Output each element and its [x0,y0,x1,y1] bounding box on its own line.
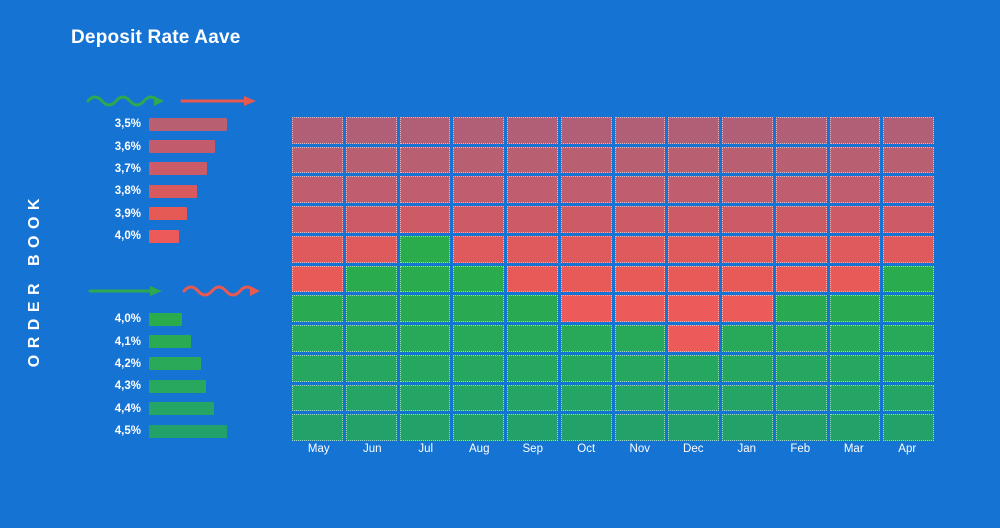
order-book-side-label: ORDER BOOK [13,140,57,420]
heatmap-cell[interactable] [776,414,827,441]
bid-bar-row[interactable]: 4,3% [105,375,265,397]
heatmap-cell[interactable] [507,414,558,441]
heatmap-cell[interactable] [292,355,343,382]
heatmap-cell[interactable] [615,176,666,203]
heatmap-cell[interactable] [668,147,719,174]
bid-bar-group: 4,0% 4,1% 4,2% 4,3% 4,4% 4,5% [105,308,265,442]
ask-bar-label: 4,0% [105,230,149,242]
heatmap-cell[interactable] [292,147,343,174]
heatmap-cell[interactable] [561,147,612,174]
heatmap-cell[interactable] [561,117,612,144]
bid-bar-label: 4,4% [105,403,149,415]
heatmap-cell[interactable] [292,414,343,441]
ask-bar-fill [149,207,187,220]
heatmap-cell[interactable] [722,206,773,233]
x-axis-tick-label: Nov [613,443,667,465]
heatmap-cell[interactable] [668,117,719,144]
heatmap-cell[interactable] [668,266,719,293]
heatmap-cell[interactable] [453,385,504,412]
heatmap-cell[interactable] [883,117,934,144]
heatmap-cell[interactable] [830,206,881,233]
heatmap-cell[interactable] [400,295,451,322]
heatmap-cell[interactable] [453,355,504,382]
heatmap-cell[interactable] [668,385,719,412]
heatmap-cell[interactable] [400,266,451,293]
x-axis: MayJunJulAugSepOctNovDecJanFebMarApr [292,443,934,465]
heatmap-cell[interactable] [830,236,881,263]
heatmap-cell[interactable] [830,355,881,382]
heatmap-cell[interactable] [668,176,719,203]
ask-bar-row[interactable]: 3,7% [105,158,265,180]
heatmap-cell[interactable] [453,206,504,233]
bid-bar-row[interactable]: 4,0% [105,308,265,330]
x-axis-tick-label: Feb [774,443,828,465]
heatmap-cell[interactable] [561,355,612,382]
heatmap-cell[interactable] [615,117,666,144]
heatmap-cell[interactable] [453,295,504,322]
heatmap-cell[interactable] [561,266,612,293]
heatmap-cell[interactable] [292,176,343,203]
heatmap-cell[interactable] [453,325,504,352]
heatmap-cell[interactable] [292,295,343,322]
heatmap-cell[interactable] [776,266,827,293]
heatmap-cell[interactable] [776,176,827,203]
heatmap-cell[interactable] [292,325,343,352]
heatmap-cell[interactable] [615,325,666,352]
dashboard-root: Deposit Rate Aave ORDER BOOK 3,5% 3,6% 3… [0,0,1000,528]
bid-bar-label: 4,3% [105,380,149,392]
ask-bar-row[interactable]: 3,8% [105,180,265,202]
heatmap-cell[interactable] [883,236,934,263]
heatmap-cell[interactable] [830,117,881,144]
heatmap-cell[interactable] [400,117,451,144]
heatmap-cell[interactable] [561,206,612,233]
heatmap-cell[interactable] [400,236,451,263]
heatmap-cell[interactable] [668,295,719,322]
heatmap-cell[interactable] [453,414,504,441]
ask-bar-row[interactable]: 4,0% [105,225,265,247]
heatmap-cell[interactable] [668,355,719,382]
heatmap-cell[interactable] [453,266,504,293]
ask-bar-fill [149,230,179,243]
heatmap-cell[interactable] [561,236,612,263]
heatmap-cell[interactable] [615,295,666,322]
heatmap-cell[interactable] [507,236,558,263]
wavy-arrow-green-icon [88,96,164,106]
heatmap-cell[interactable] [346,117,397,144]
heatmap-cell[interactable] [400,414,451,441]
heatmap-cell[interactable] [883,295,934,322]
x-axis-tick-label: Oct [560,443,614,465]
ask-bar-fill [149,162,207,175]
heatmap-cell[interactable] [615,236,666,263]
heatmap-cell[interactable] [883,414,934,441]
x-axis-tick-label: Aug [453,443,507,465]
heatmap-cell[interactable] [830,295,881,322]
heatmap-cell[interactable] [722,147,773,174]
order-book-label-text: ORDER BOOK [26,192,44,367]
heatmap-cell[interactable] [883,385,934,412]
heatmap-grid [292,117,934,441]
heatmap-cell[interactable] [615,206,666,233]
heatmap-cell[interactable] [507,266,558,293]
heatmap-cell[interactable] [292,117,343,144]
heatmap-cell[interactable] [776,295,827,322]
bid-bar-fill [149,335,191,348]
heatmap-cell[interactable] [507,147,558,174]
bid-bar-fill [149,402,214,415]
heatmap-cell[interactable] [400,325,451,352]
ask-bar-fill [149,185,197,198]
heatmap-cell[interactable] [722,176,773,203]
heatmap-cell[interactable] [722,117,773,144]
heatmap-cell[interactable] [507,355,558,382]
heatmap-cell[interactable] [668,236,719,263]
bid-bar-row[interactable]: 4,5% [105,420,265,442]
heatmap-cell[interactable] [346,206,397,233]
heatmap-cell[interactable] [776,385,827,412]
heatmap-cell[interactable] [561,325,612,352]
heatmap-cell[interactable] [668,325,719,352]
heatmap-cell[interactable] [561,385,612,412]
heatmap-cell[interactable] [453,176,504,203]
ask-bar-group: 3,5% 3,6% 3,7% 3,8% 3,9% 4,0% [105,113,265,247]
ask-bar-row[interactable]: 3,9% [105,203,265,225]
bid-bar-label: 4,0% [105,313,149,325]
heatmap-cell[interactable] [722,325,773,352]
x-axis-tick-label: Jul [399,443,453,465]
heatmap-cell[interactable] [776,325,827,352]
bid-bar-label: 4,5% [105,425,149,437]
heatmap-cell[interactable] [507,206,558,233]
ask-bar-label: 3,9% [105,208,149,220]
x-axis-tick-label: May [292,443,346,465]
heatmap-cell[interactable] [292,266,343,293]
x-axis-tick-label: Jun [346,443,400,465]
ask-bar-fill [149,140,215,153]
x-axis-tick-label: Dec [667,443,721,465]
heatmap-cell[interactable] [776,147,827,174]
bid-bar-row[interactable]: 4,2% [105,353,265,375]
ask-bar-label: 3,8% [105,185,149,197]
heatmap-cell[interactable] [507,385,558,412]
heatmap-cell[interactable] [722,295,773,322]
ask-bar-row[interactable]: 3,5% [105,113,265,135]
heatmap-cell[interactable] [346,295,397,322]
heatmap-cell[interactable] [830,266,881,293]
heatmap-cell[interactable] [883,206,934,233]
heatmap-cell[interactable] [453,147,504,174]
heatmap-cell[interactable] [668,206,719,233]
heatmap-cell[interactable] [668,414,719,441]
heatmap-cell[interactable] [830,176,881,203]
heatmap-cell[interactable] [400,385,451,412]
bid-bar-row[interactable]: 4,4% [105,398,265,420]
heatmap-cell[interactable] [776,206,827,233]
heatmap-cell[interactable] [883,147,934,174]
heatmap-cell[interactable] [776,355,827,382]
heatmap-cell[interactable] [776,117,827,144]
heatmap-cell[interactable] [346,266,397,293]
heatmap-container [292,117,934,441]
heatmap-cell[interactable] [346,355,397,382]
straight-arrow-red-icon [182,96,256,106]
ask-bar-label: 3,7% [105,163,149,175]
x-axis-tick-label: Sep [506,443,560,465]
heatmap-cell[interactable] [722,385,773,412]
straight-arrow-green-icon [90,286,162,296]
heatmap-cell[interactable] [615,147,666,174]
x-axis-tick-label: Apr [881,443,935,465]
heatmap-cell[interactable] [776,236,827,263]
heatmap-cell[interactable] [830,325,881,352]
heatmap-cell[interactable] [722,236,773,263]
ask-bar-fill [149,118,227,131]
bid-bar-fill [149,313,182,326]
bid-bar-fill [149,425,227,438]
ask-bar-label: 3,6% [105,141,149,153]
heatmap-cell[interactable] [400,147,451,174]
heatmap-cell[interactable] [615,355,666,382]
ask-bar-row[interactable]: 3,6% [105,135,265,157]
heatmap-cell[interactable] [346,414,397,441]
heatmap-cell[interactable] [346,147,397,174]
heatmap-cell[interactable] [722,266,773,293]
heatmap-cell[interactable] [292,236,343,263]
heatmap-cell[interactable] [830,385,881,412]
heatmap-cell[interactable] [453,117,504,144]
heatmap-cell[interactable] [830,414,881,441]
heatmap-cell[interactable] [615,266,666,293]
x-axis-tick-label: Mar [827,443,881,465]
heatmap-cell[interactable] [507,325,558,352]
ask-bar-label: 3,5% [105,118,149,130]
page-title: Deposit Rate Aave [71,27,241,49]
wavy-arrow-red-icon [184,286,260,296]
heatmap-cell[interactable] [883,355,934,382]
arrow-row-bottom [80,278,280,304]
heatmap-cell[interactable] [507,176,558,203]
heatmap-cell[interactable] [561,295,612,322]
heatmap-cell[interactable] [400,206,451,233]
arrow-row-top-svg [80,88,280,114]
bid-bar-fill [149,380,206,393]
heatmap-cell[interactable] [561,414,612,441]
heatmap-cell[interactable] [400,355,451,382]
heatmap-cell[interactable] [883,266,934,293]
heatmap-cell[interactable] [722,355,773,382]
bid-bar-fill [149,357,201,370]
x-axis-tick-label: Jan [720,443,774,465]
heatmap-cell[interactable] [507,117,558,144]
heatmap-cell[interactable] [615,385,666,412]
arrow-row-bottom-svg [80,278,280,304]
heatmap-cell[interactable] [830,147,881,174]
arrow-row-top [80,88,280,114]
heatmap-cell[interactable] [292,385,343,412]
heatmap-cell[interactable] [346,236,397,263]
heatmap-cell[interactable] [453,236,504,263]
heatmap-cell[interactable] [346,176,397,203]
heatmap-cell[interactable] [346,385,397,412]
heatmap-cell[interactable] [883,176,934,203]
heatmap-cell[interactable] [883,325,934,352]
heatmap-cell[interactable] [292,206,343,233]
heatmap-cell[interactable] [722,414,773,441]
heatmap-cell[interactable] [507,295,558,322]
heatmap-cell[interactable] [615,414,666,441]
heatmap-cell[interactable] [400,176,451,203]
bid-bar-row[interactable]: 4,1% [105,330,265,352]
heatmap-cell[interactable] [561,176,612,203]
heatmap-cell[interactable] [346,325,397,352]
bid-bar-label: 4,1% [105,336,149,348]
bid-bar-label: 4,2% [105,358,149,370]
